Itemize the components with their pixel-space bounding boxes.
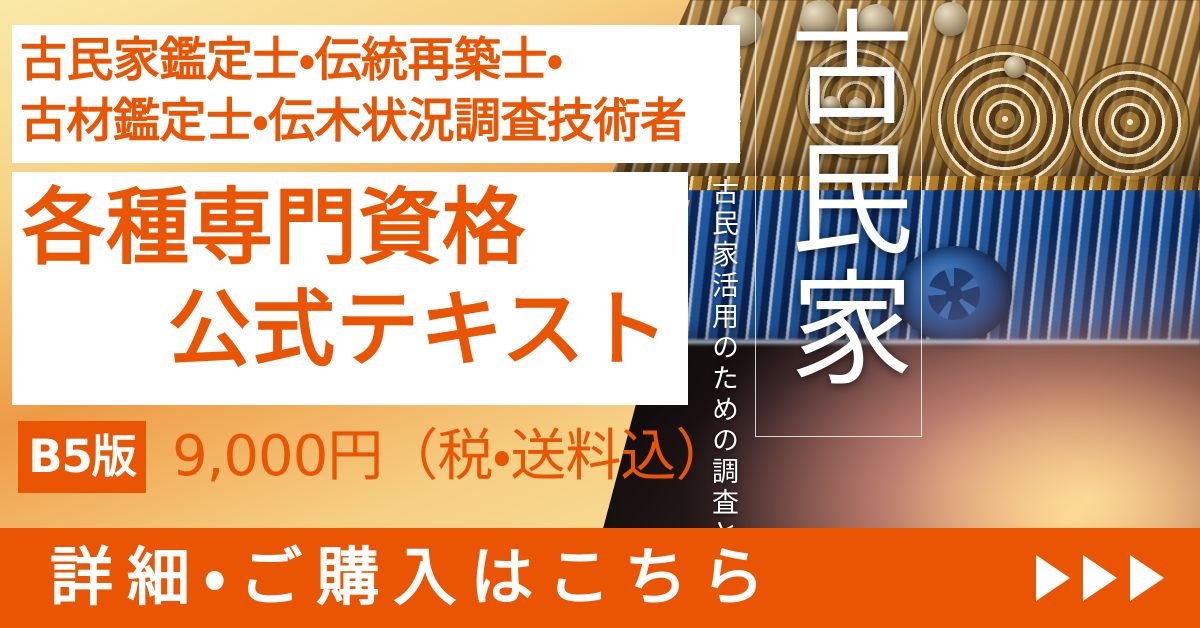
- headline-line-1: 各種専門資格: [22, 186, 526, 269]
- qualification-line-1: 古民家鑑定士・伝統再築士・: [20, 30, 732, 91]
- format-badge: B5版: [18, 421, 146, 493]
- qualification-list: 古民家鑑定士・伝統再築士・ 古材鑑定士・伝木状況調査技術者: [20, 30, 732, 152]
- headline-line-2: 公式テキスト: [168, 288, 670, 371]
- triangle-right-icon: [1083, 555, 1117, 601]
- cta-label: 詳細・ご購入はこちら: [50, 536, 778, 620]
- cta-arrows: [1036, 555, 1164, 601]
- cta-bar[interactable]: 詳細・ご購入はこちら: [0, 528, 1200, 628]
- cover-title: 古民家: [768, 4, 908, 434]
- triangle-right-icon: [1036, 555, 1070, 601]
- promo-banner: 古民家 伝統構法 古民家活用のための調査と再生の 古民家鑑定士・伝統再築士・ 古…: [0, 0, 1200, 628]
- price-text: 9,000円（税・送料込）: [172, 424, 730, 490]
- qualification-line-2: 古材鑑定士・伝木状況調査技術者: [20, 91, 732, 152]
- triangle-right-icon: [1130, 555, 1164, 601]
